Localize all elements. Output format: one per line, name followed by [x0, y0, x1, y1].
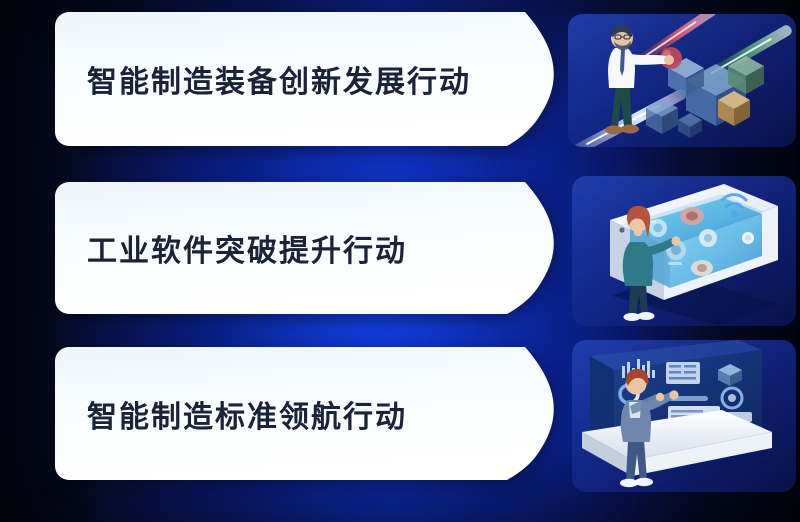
- action-card-1[interactable]: 智能制造装备创新发展行动: [55, 12, 575, 146]
- illustration-data-dashboard-wall-icon: [572, 340, 796, 492]
- card-title-1: 智能制造装备创新发展行动: [87, 57, 471, 101]
- action-card-3[interactable]: 智能制造标准领航行动: [55, 347, 575, 480]
- card-title-2: 工业软件突破提升行动: [87, 226, 407, 270]
- illustration-tablet-touchscreen-woman-icon: [572, 176, 796, 326]
- illustration-isometric-blocks-engineer-icon: [568, 14, 796, 147]
- poster-canvas: 智能制造装备创新发展行动: [0, 0, 800, 522]
- action-card-2[interactable]: 工业软件突破提升行动: [55, 182, 575, 314]
- card-title-3: 智能制造标准领航行动: [87, 392, 407, 436]
